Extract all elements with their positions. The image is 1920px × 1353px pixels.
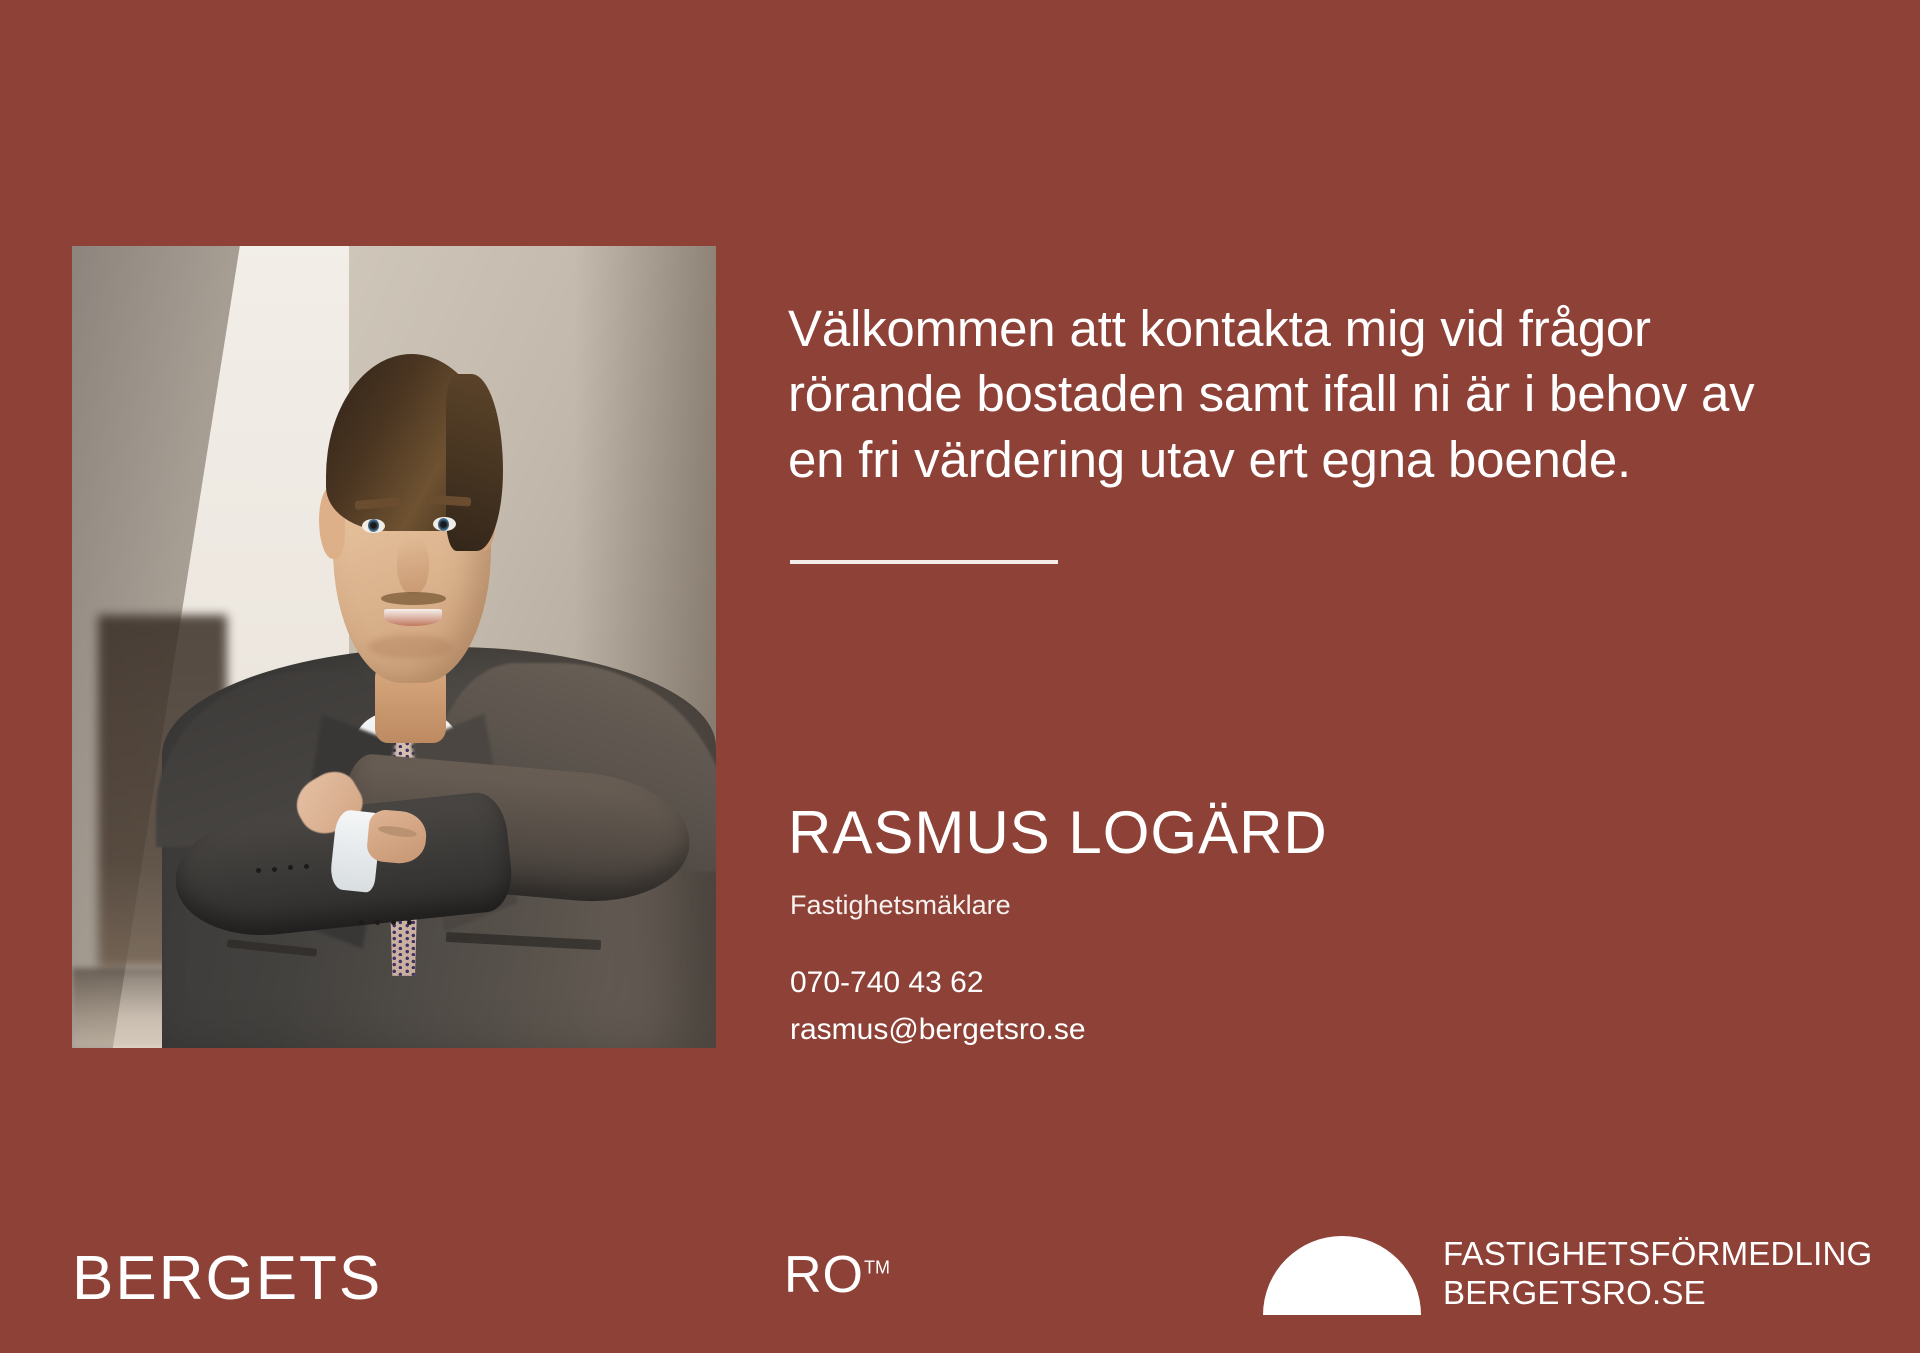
agency-line-2: BERGETSRO.SE	[1443, 1273, 1872, 1313]
divider-rule	[790, 560, 1058, 564]
chin-shadow	[368, 635, 452, 659]
brand-wordmark-bergets: BERGETS	[72, 1248, 382, 1310]
agency-logo-text: FASTIGHETSFÖRMEDLING BERGETSRO.SE	[1443, 1234, 1872, 1315]
dome-logo-icon	[1263, 1236, 1421, 1315]
sleeve-button	[407, 920, 412, 925]
sleeve-button	[304, 864, 309, 869]
text-column: Välkommen att kontakta mig vid frågor rö…	[788, 0, 1848, 1353]
agent-phone[interactable]: 070-740 43 62	[790, 966, 984, 1000]
agency-logo-block: FASTIGHETSFÖRMEDLING BERGETSRO.SE	[1263, 1234, 1872, 1315]
sleeve-button	[375, 920, 380, 925]
iris-left	[368, 519, 379, 532]
brand-wordmark-ro: ROTM	[784, 1249, 890, 1301]
sleeve-button	[272, 867, 277, 872]
agency-line-1: FASTIGHETSFÖRMEDLING	[1443, 1234, 1872, 1274]
brand-ro-text: RO	[784, 1246, 864, 1304]
photo-scene	[72, 246, 716, 1048]
sleeve-button	[256, 868, 261, 873]
agent-portrait-photo	[72, 246, 716, 1048]
intro-paragraph: Välkommen att kontakta mig vid frågor rö…	[788, 296, 1798, 492]
sleeve-button	[359, 920, 364, 925]
agent-email[interactable]: rasmus@bergetsro.se	[790, 1013, 1086, 1047]
sleeve-button	[391, 920, 396, 925]
contact-card: Välkommen att kontakta mig vid frågor rö…	[0, 0, 1920, 1353]
agent-role: Fastighetsmäklare	[790, 890, 1011, 921]
trademark-symbol: TM	[864, 1258, 890, 1278]
sleeve-button	[288, 865, 293, 870]
agent-name: RASMUS LOGÄRD	[788, 798, 1328, 867]
